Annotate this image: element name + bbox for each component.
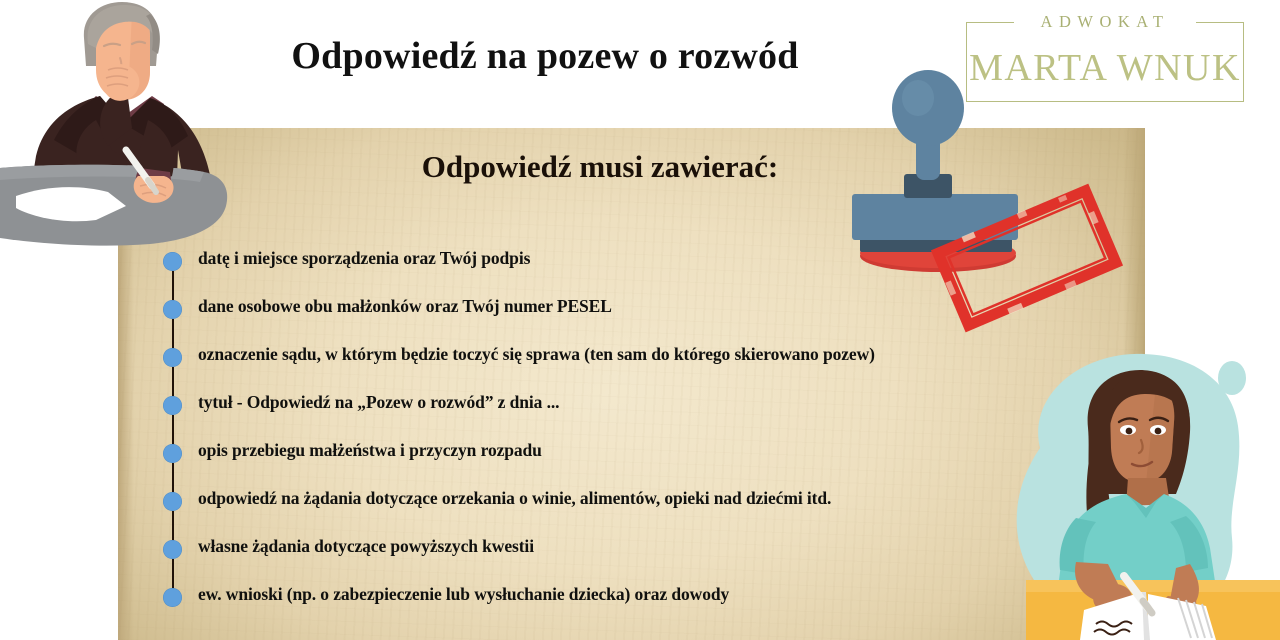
rubber-stamp-illustration bbox=[840, 66, 1120, 346]
bullet-dot-icon bbox=[163, 348, 182, 367]
list-item-label: ew. wnioski (np. o zabezpieczenie lub wy… bbox=[198, 584, 729, 605]
infographic-canvas: Odpowiedź na pozew o rozwód Odpowiedź mu… bbox=[0, 0, 1280, 640]
bullet-dot-icon bbox=[163, 300, 182, 319]
list-item-label: oznaczenie sądu, w którym będzie toczyć … bbox=[198, 344, 875, 365]
list-item-label: odpowiedź na żądania dotyczące orzekania… bbox=[198, 488, 831, 509]
list-item-label: własne żądania dotyczące powyższych kwes… bbox=[198, 536, 534, 557]
list-item-label: opis przebiegu małżeństwa i przyczyn roz… bbox=[198, 440, 542, 461]
bullet-dot-icon bbox=[163, 396, 182, 415]
bullet-dot-icon bbox=[163, 492, 182, 511]
list-item-label: tytuł - Odpowiedź na „Pozew o rozwód” z … bbox=[198, 392, 559, 413]
bullet-dot-icon bbox=[163, 588, 182, 607]
logo-top-line: ADWOKAT bbox=[966, 13, 1244, 31]
list-item-label: datę i miejsce sporządzenia oraz Twój po… bbox=[198, 248, 530, 269]
thinking-man-illustration bbox=[0, 0, 240, 250]
brand-logo: ADWOKAT MARTA WNUK bbox=[966, 22, 1244, 102]
page-title: Odpowiedź na pozew o rozwód bbox=[215, 36, 875, 78]
bullet-dot-icon bbox=[163, 252, 182, 271]
list-item-label: dane osobowe obu małżonków oraz Twój num… bbox=[198, 296, 612, 317]
logo-name: MARTA WNUK bbox=[966, 42, 1244, 94]
woman-writing-illustration bbox=[980, 352, 1280, 640]
bullet-dot-icon bbox=[163, 444, 182, 463]
bullet-dot-icon bbox=[163, 540, 182, 559]
